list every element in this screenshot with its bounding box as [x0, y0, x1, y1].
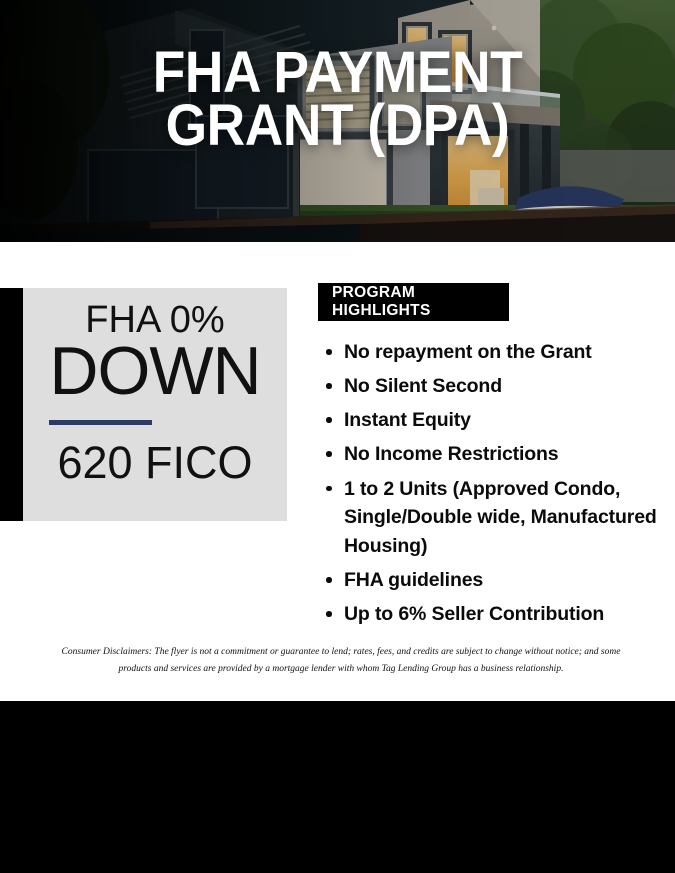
list-item: No repayment on the Grant: [344, 338, 675, 367]
footer: TAG LENDING GROUP CALL TODAY FOR DETAILS…: [0, 701, 675, 873]
offer-fico-label: 620 FICO: [57, 437, 252, 489]
flyer-page: FHA PAYMENT GRANT (DPA) FHA 0% DOWN 620 …: [0, 0, 675, 873]
list-item: No Silent Second: [344, 372, 675, 401]
list-item: FHA guidelines: [344, 566, 675, 595]
program-highlights-badge: PROGRAM HIGHLIGHTS: [318, 283, 509, 321]
list-item: 1 to 2 Units (Approved Condo, Single/Dou…: [344, 475, 675, 561]
offer-panel: FHA 0% DOWN 620 FICO: [23, 288, 287, 521]
program-highlights-list: No repayment on the Grant No Silent Seco…: [318, 338, 675, 634]
offer-divider: [49, 420, 152, 425]
consumer-disclaimer: Consumer Disclaimers: The flyer is not a…: [56, 644, 626, 677]
list-item: Instant Equity: [344, 406, 675, 435]
program-highlights-badge-label: PROGRAM HIGHLIGHTS: [332, 284, 509, 320]
hero-title-line-2: GRANT (DPA): [27, 99, 648, 152]
hero-title: FHA PAYMENT GRANT (DPA): [27, 46, 648, 153]
list-item: Up to 6% Seller Contribution: [344, 600, 675, 629]
left-accent-bar: [0, 288, 23, 521]
list-item: No Income Restrictions: [344, 440, 675, 469]
offer-down-label: DOWN: [49, 337, 260, 406]
hero-banner: FHA PAYMENT GRANT (DPA): [0, 0, 675, 242]
